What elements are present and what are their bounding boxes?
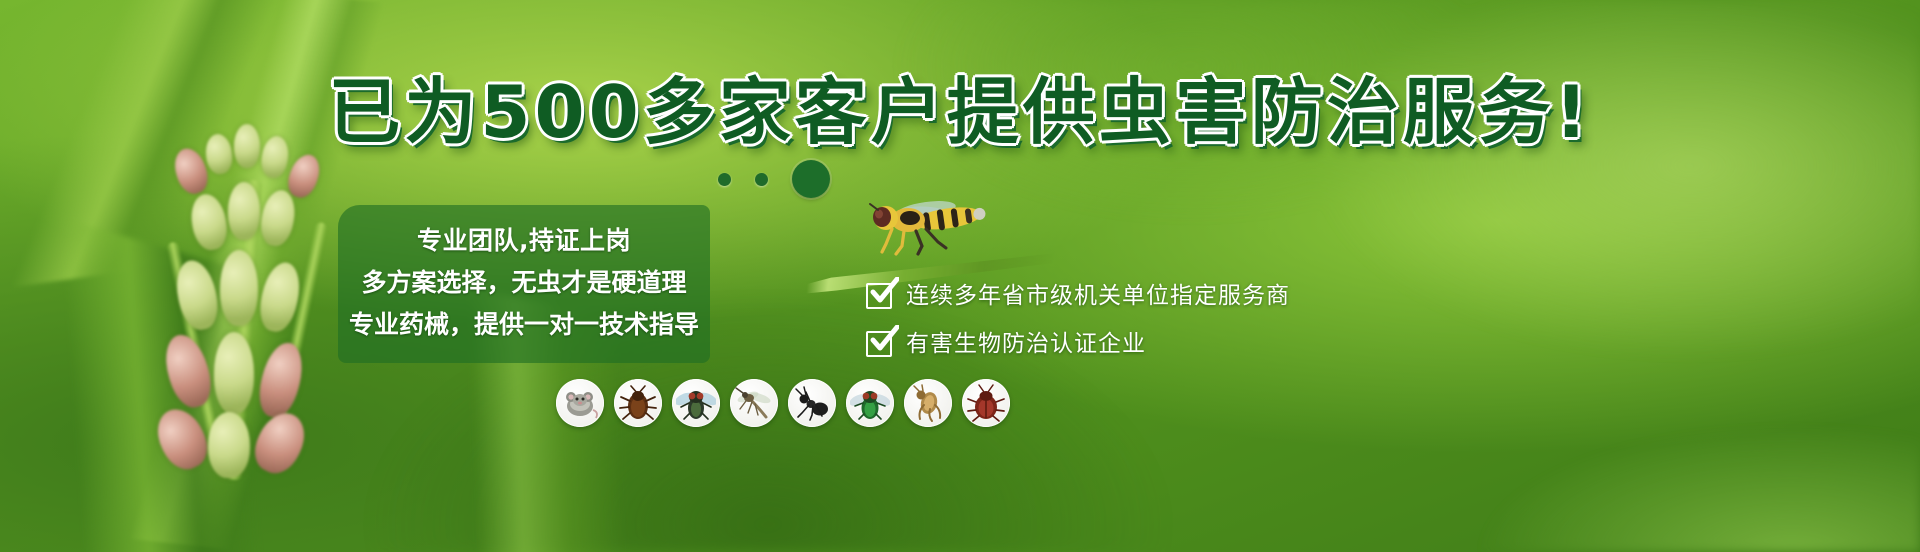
checkbox-checked-icon — [866, 283, 892, 309]
hoverfly-icon — [852, 196, 992, 258]
dot-icon — [755, 173, 768, 186]
value-prop-line-1: 专业团队,持证上岗 — [348, 224, 700, 258]
value-prop-line-2: 多方案选择，无虫才是硬道理 — [348, 266, 700, 300]
flea-icon[interactable] — [904, 379, 952, 427]
certification-bullets: 连续多年省市级机关单位指定服务商 有害生物防治认证企业 — [866, 272, 1386, 368]
bullet-label: 有害生物防治认证企业 — [906, 330, 1146, 358]
bullet-item: 有害生物防治认证企业 — [866, 320, 1386, 368]
value-prop-panel-text: 专业团队,持证上岗 多方案选择，无虫才是硬道理 专业药械，提供一对一技术指导 — [338, 205, 710, 363]
dot-icon — [718, 173, 731, 186]
blowfly-icon[interactable] — [846, 379, 894, 427]
fly-icon[interactable] — [672, 379, 720, 427]
mosquito-icon[interactable] — [730, 379, 778, 427]
bullet-item: 连续多年省市级机关单位指定服务商 — [866, 272, 1386, 320]
ant-icon[interactable] — [788, 379, 836, 427]
promo-banner: 已为500多家客户提供虫害防治服务! 专业团队,持证上岗 多方案选择，无虫才是硬… — [0, 0, 1920, 552]
value-prop-line-3: 专业药械，提供一对一技术指导 — [348, 308, 700, 342]
rodent-icon[interactable] — [556, 379, 604, 427]
cockroach-icon[interactable] — [614, 379, 662, 427]
banner-headline: 已为500多家客户提供虫害防治服务! — [0, 72, 1920, 152]
pest-icon-row — [556, 379, 1010, 427]
bedbug-icon[interactable] — [962, 379, 1010, 427]
bullet-label: 连续多年省市级机关单位指定服务商 — [906, 282, 1290, 310]
checkbox-checked-icon — [866, 331, 892, 357]
